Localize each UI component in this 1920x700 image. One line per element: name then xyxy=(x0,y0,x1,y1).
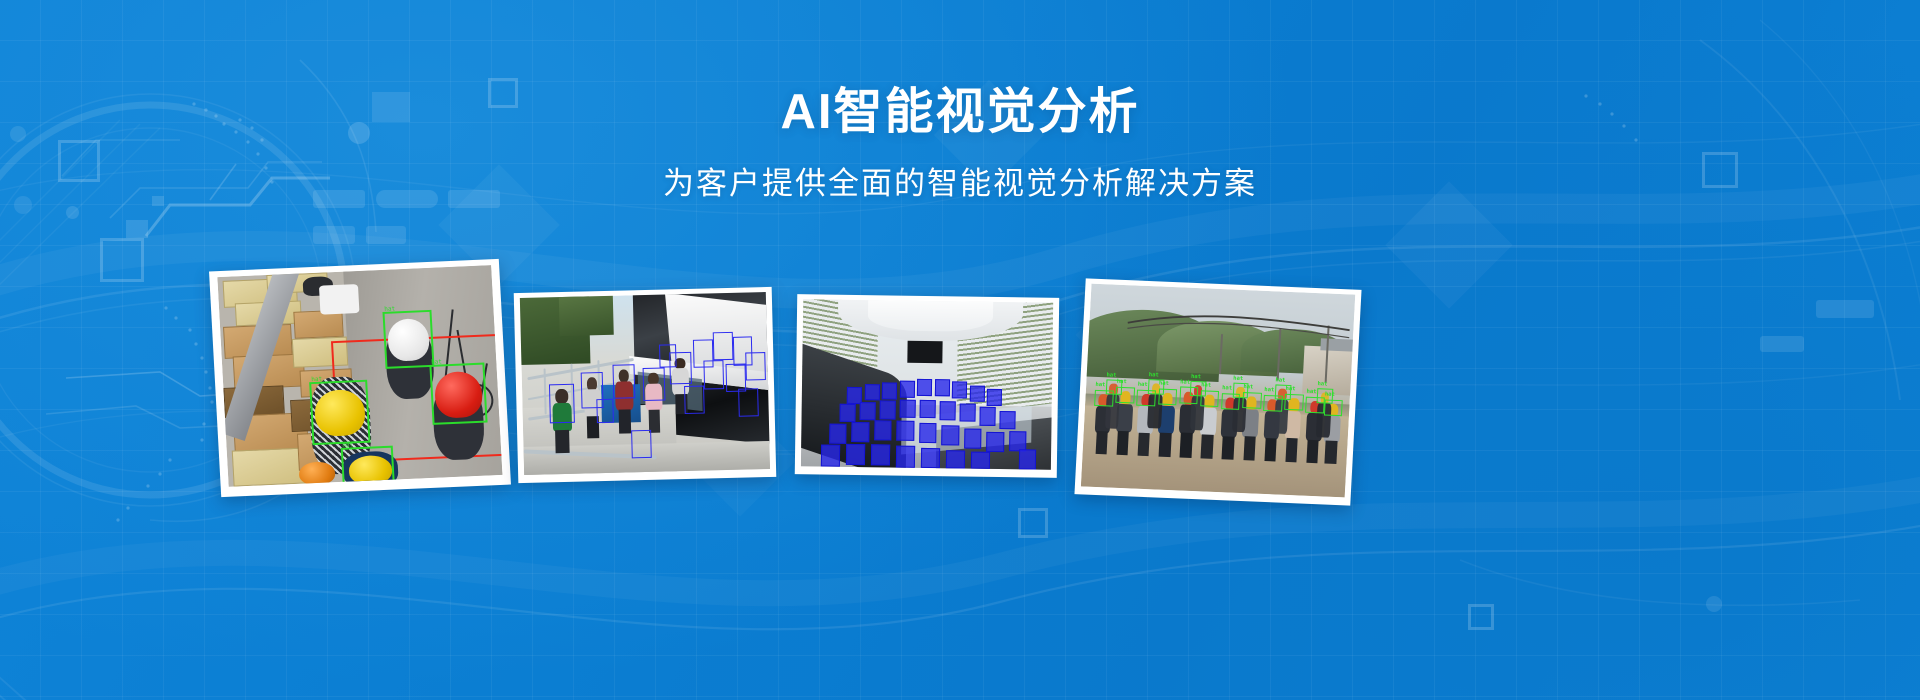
page-title: AI智能视觉分析 xyxy=(0,84,1920,140)
photo-2-detection-box xyxy=(549,383,575,423)
gallery-photo-3[interactable] xyxy=(795,294,1059,478)
detection-label: hat xyxy=(1275,378,1285,384)
hero-copy: AI智能视觉分析 为客户提供全面的智能视觉分析解决方案 xyxy=(0,84,1920,203)
decor-circle xyxy=(1706,596,1722,612)
photo-2-detection-box xyxy=(596,398,614,423)
detection-label: hat xyxy=(1095,382,1105,388)
photo-2-detection-box xyxy=(613,364,636,398)
photo-2-detection-box xyxy=(659,344,677,367)
photo-1-detection-box: hat xyxy=(382,310,434,369)
detection-label: hat xyxy=(1149,372,1159,378)
decor-circle xyxy=(66,206,79,219)
hero-banner: AI智能视觉分析 为客户提供全面的智能视觉分析解决方案 xyxy=(0,0,1920,700)
decor-square-fill xyxy=(126,220,148,238)
photo-2-detection-box xyxy=(631,429,651,458)
detection-label: hat xyxy=(1138,382,1148,388)
detection-label: hat xyxy=(1317,381,1327,387)
decor-square-outline xyxy=(1468,604,1494,630)
detection-label: hat xyxy=(342,441,353,450)
photo-2-detection-box xyxy=(713,332,733,361)
decor-bar xyxy=(313,226,355,244)
detection-label: hat xyxy=(1306,389,1316,395)
detection-label: hat xyxy=(1264,387,1274,393)
detection-label: hat xyxy=(1222,386,1232,392)
photo-2-scene xyxy=(520,292,770,475)
photo-1-detection-box: hat xyxy=(309,380,370,445)
photo-2-detection-box xyxy=(739,388,759,417)
decor-bar xyxy=(366,226,406,244)
photo-1-detection-box: hat xyxy=(429,362,487,425)
detection-label: hat xyxy=(1106,373,1116,379)
photo-4-scene: hat hat hat hat hat hat hat hat xyxy=(1081,284,1355,498)
photo-2-detection-box xyxy=(745,352,765,381)
photo-1-detection-box: hat xyxy=(340,446,394,486)
gallery-photo-1[interactable]: hat hat hat xyxy=(209,259,511,497)
photo-1-scene: hat hat hat xyxy=(217,265,502,487)
photo-4-detection-box xyxy=(1274,385,1291,400)
detection-label: hat xyxy=(311,375,322,384)
detection-label: hat xyxy=(1180,380,1190,386)
page-subtitle: 为客户提供全面的智能视觉分析解决方案 xyxy=(0,165,1920,202)
photo-3-scene xyxy=(801,299,1053,469)
photo-4-detection-box xyxy=(1232,383,1249,398)
photo-4-detection-box xyxy=(1106,380,1123,395)
photo-2-detection-box xyxy=(642,367,665,401)
gallery-photo-4[interactable]: hat hat hat hat hat hat hat hat xyxy=(1074,278,1361,505)
detection-label: hat xyxy=(1233,376,1243,382)
photo-2-detection-box xyxy=(703,360,723,389)
photo-4-detection-box xyxy=(1317,389,1334,404)
detection-label: hat xyxy=(384,304,395,313)
detection-label: hat xyxy=(1191,374,1201,380)
photo-gallery: hat hat hat xyxy=(0,250,1920,520)
photo-4-detection-box xyxy=(1148,379,1165,394)
photo-2-detection-box xyxy=(684,386,704,415)
detection-label: hat xyxy=(431,357,442,366)
photo-4-detection-box xyxy=(1190,381,1207,396)
gallery-photo-2[interactable] xyxy=(514,287,777,483)
